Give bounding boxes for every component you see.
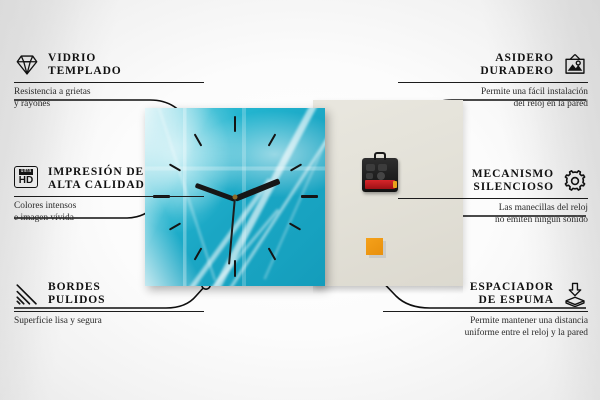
feature-desc-line2: e imagen vívida <box>14 213 204 225</box>
ultra-hd-icon: ultra HD <box>14 166 40 192</box>
polished-edges-icon <box>14 281 40 307</box>
feature-header: BORDES PULIDOS <box>14 281 204 307</box>
feature-header: ESPACIADOR DE ESPUMA <box>383 281 588 307</box>
feature-title-line2: PULIDOS <box>48 294 105 307</box>
feature-title-line2: SILENCIOSO <box>472 181 554 194</box>
feature-desc-line2: no emiten ningún sonido <box>398 215 588 227</box>
feature-desc-line1: Superficie lisa y segura <box>14 316 204 328</box>
clock-tick-6 <box>234 260 236 277</box>
feature-mecanismo-silencioso: MECANISMO SILENCIOSO Las manecillas del … <box>398 168 588 226</box>
feature-header: VIDRIO TEMPLADO <box>14 52 204 78</box>
feature-title-line2: DURADERO <box>480 65 554 78</box>
feature-title-line1: ASIDERO <box>480 52 554 65</box>
mechanism-button <box>366 173 373 179</box>
mechanism-dial <box>377 172 385 180</box>
divider <box>14 82 204 83</box>
clock-tick-12 <box>234 116 236 132</box>
feature-title-line1: VIDRIO <box>48 52 122 65</box>
feature-espaciador-de-espuma: ESPACIADOR DE ESPUMA Permite mantener un… <box>383 281 588 339</box>
feature-desc-line1: Colores intensos <box>14 201 204 213</box>
infographic-canvas: VIDRIO TEMPLADO Resistencia a grietas y … <box>0 0 600 400</box>
mechanism-button <box>378 164 387 171</box>
feature-vidrio-templado: VIDRIO TEMPLADO Resistencia a grietas y … <box>14 52 204 110</box>
mechanism-hanger-hook <box>374 152 386 160</box>
divider <box>383 311 588 312</box>
foam-spacer <box>366 238 383 255</box>
picture-frame-hanging-icon <box>562 52 588 78</box>
feature-title-line2: TEMPLADO <box>48 65 122 78</box>
mechanism-button <box>366 164 375 171</box>
feature-bordes-pulidos: BORDES PULIDOS Superficie lisa y segura <box>14 281 204 328</box>
feature-desc-line1: Resistencia a grietas <box>14 87 204 99</box>
feature-title-line1: BORDES <box>48 281 105 294</box>
ultra-hd-badge-main: HD <box>19 176 33 186</box>
diamond-icon <box>14 52 40 78</box>
feature-desc-line2: uniforme entre el reloj y la pared <box>383 328 588 340</box>
feature-title-line1: IMPRESIÓN DE <box>48 166 145 179</box>
divider <box>398 198 588 199</box>
clock-center-cap <box>233 195 238 200</box>
feature-title-line1: ESPACIADOR <box>470 281 554 294</box>
clock-mechanism <box>362 158 398 192</box>
feature-header: ASIDERO DURADERO <box>398 52 588 78</box>
feature-desc-line1: Las manecillas del reloj <box>398 203 588 215</box>
feature-desc-line2: del reloj en la pared <box>398 99 588 111</box>
feature-title-line2: ALTA CALIDAD <box>48 179 145 192</box>
feature-desc-line1: Permite una fácil instalación <box>398 87 588 99</box>
feature-title-line2: DE ESPUMA <box>470 294 554 307</box>
feature-desc-line2: y rayones <box>14 99 204 111</box>
divider <box>14 196 204 197</box>
feature-asidero-duradero: ASIDERO DURADERO Permite una fácil insta… <box>398 52 588 110</box>
gear-icon <box>562 168 588 194</box>
ultra-hd-badge-top: ultra <box>19 169 34 175</box>
clock-tick-3 <box>301 195 318 198</box>
feature-desc-line1: Permite mantener una distancia <box>383 316 588 328</box>
feature-impresion-alta-calidad: ultra HD IMPRESIÓN DE ALTA CALIDAD Color… <box>14 166 204 224</box>
feature-header: ultra HD IMPRESIÓN DE ALTA CALIDAD <box>14 166 204 192</box>
feature-title-line1: MECANISMO <box>472 168 554 181</box>
divider <box>14 311 204 312</box>
battery <box>365 180 395 189</box>
divider <box>398 82 588 83</box>
press-down-foam-icon <box>562 281 588 307</box>
feature-header: MECANISMO SILENCIOSO <box>398 168 588 194</box>
